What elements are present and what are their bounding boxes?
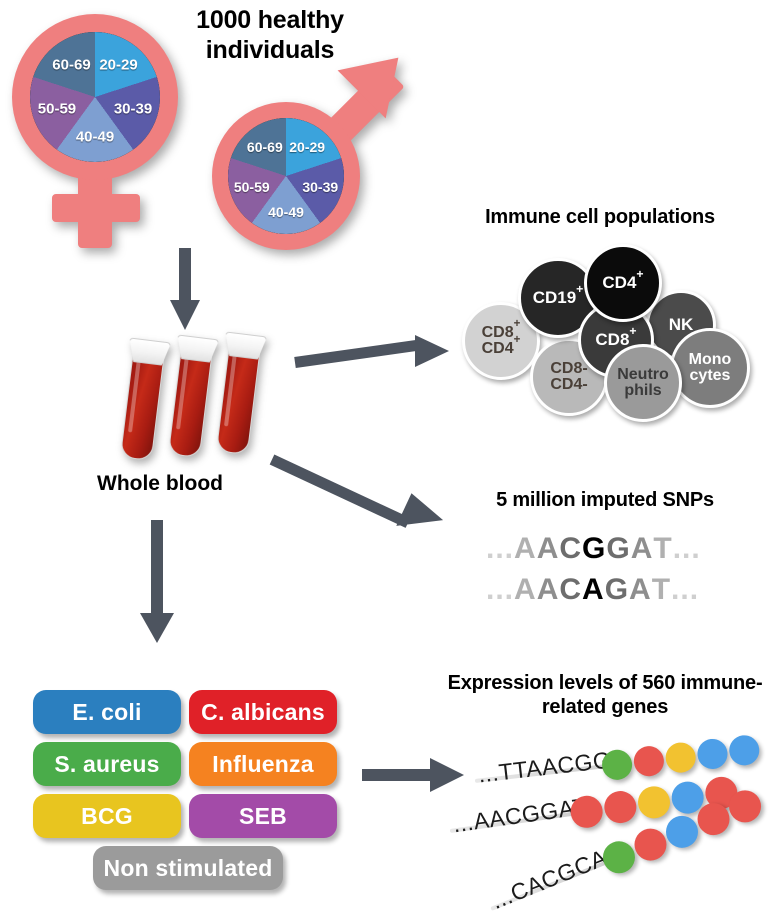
cell-monocytes: Monocytes [670,328,750,408]
stim-label: Non stimulated [104,855,273,882]
arrow-cohort-to-blood [170,248,200,330]
immune-cell-populations-title: Immune cell populations [435,206,765,230]
stim-non-stimulated[interactable]: Non stimulated [93,846,283,890]
blood-tube [214,332,262,453]
stim-label: E. coli [72,699,141,726]
stim-label: BCG [81,803,133,830]
stimulation-conditions: E. coli C. albicans S. aureus Influenza … [33,690,343,890]
arrow-blood-to-stimulations [140,520,174,645]
expression-bead [728,734,761,767]
blood-tube [118,338,166,459]
female-stem-cross [52,194,140,222]
stim-c-albicans[interactable]: C. albicans [189,690,337,734]
female-symbol: 20-2930-3940-4950-5960-69 [8,10,188,250]
stim-s-aureus[interactable]: S. aureus [33,742,181,786]
strand-sequence: ...AACGGAT [451,793,588,839]
cell-neutrophils: Neutrophils [604,344,682,422]
cell-label: Monocytes [689,352,732,385]
expression-bead [632,745,665,778]
expression-bead [664,741,697,774]
cell-label: Neutrophils [617,367,669,400]
cell-label: CD19+ [533,289,584,306]
snp-sequence-g: ...AACGGAT... [486,532,701,566]
stim-label: S. aureus [54,751,159,778]
expression-bead [636,784,672,820]
arrow-blood-to-immune [295,330,455,380]
arrow-blood-to-snp [272,448,457,543]
stim-influenza[interactable]: Influenza [189,742,337,786]
cell-label: CD8-CD4- [550,361,587,394]
stim-label: C. albicans [201,699,325,726]
gene-expression-strands: ...TTAACGG ...AACGGAT ...CACGCAA [455,730,771,920]
blood-tube [166,335,214,456]
pie-slice-60-69 [228,118,344,234]
cell-label: CD4+ [602,274,643,291]
pie-label-60-69: 60-69 [247,139,283,155]
stim-seb[interactable]: SEB [189,794,337,838]
male-age-pie: 20-2930-3940-4950-5960-69 [228,118,344,234]
cell-cd4pos: CD4+ [584,244,662,322]
pie-label-60-69: 60-69 [52,56,90,73]
expression-bead [602,789,638,825]
pie-slice-60-69 [30,32,160,162]
expression-title: Expression levels of 560 immune-related … [440,672,770,719]
expression-bead [600,748,633,781]
male-symbol: 20-2930-3940-4950-5960-69 [200,60,420,250]
immune-cell-cluster: CD8+CD4+ CD19+ CD4+ CD8-CD4- CD8+ NK Neu… [460,240,760,420]
stim-bcg[interactable]: BCG [33,794,181,838]
study-design-diagram: 1000 healthy individuals 20-2930-3940-49… [0,0,771,922]
whole-blood-tubes [118,335,288,465]
stim-label: SEB [239,803,287,830]
stim-label: Influenza [212,751,313,778]
cell-label: CD8+CD4+ [482,325,521,358]
snp-title: 5 million imputed SNPs [445,489,765,513]
cell-label: NK [669,316,694,333]
expression-bead [696,737,729,770]
whole-blood-label: Whole blood [60,472,260,496]
strand-sequence: ...TTAACGG [477,747,613,789]
stim-e-coli[interactable]: E. coli [33,690,181,734]
snp-sequence-a: ...AACAGAT... [486,573,699,607]
female-age-pie: 20-2930-3940-4950-5960-69 [30,32,160,162]
